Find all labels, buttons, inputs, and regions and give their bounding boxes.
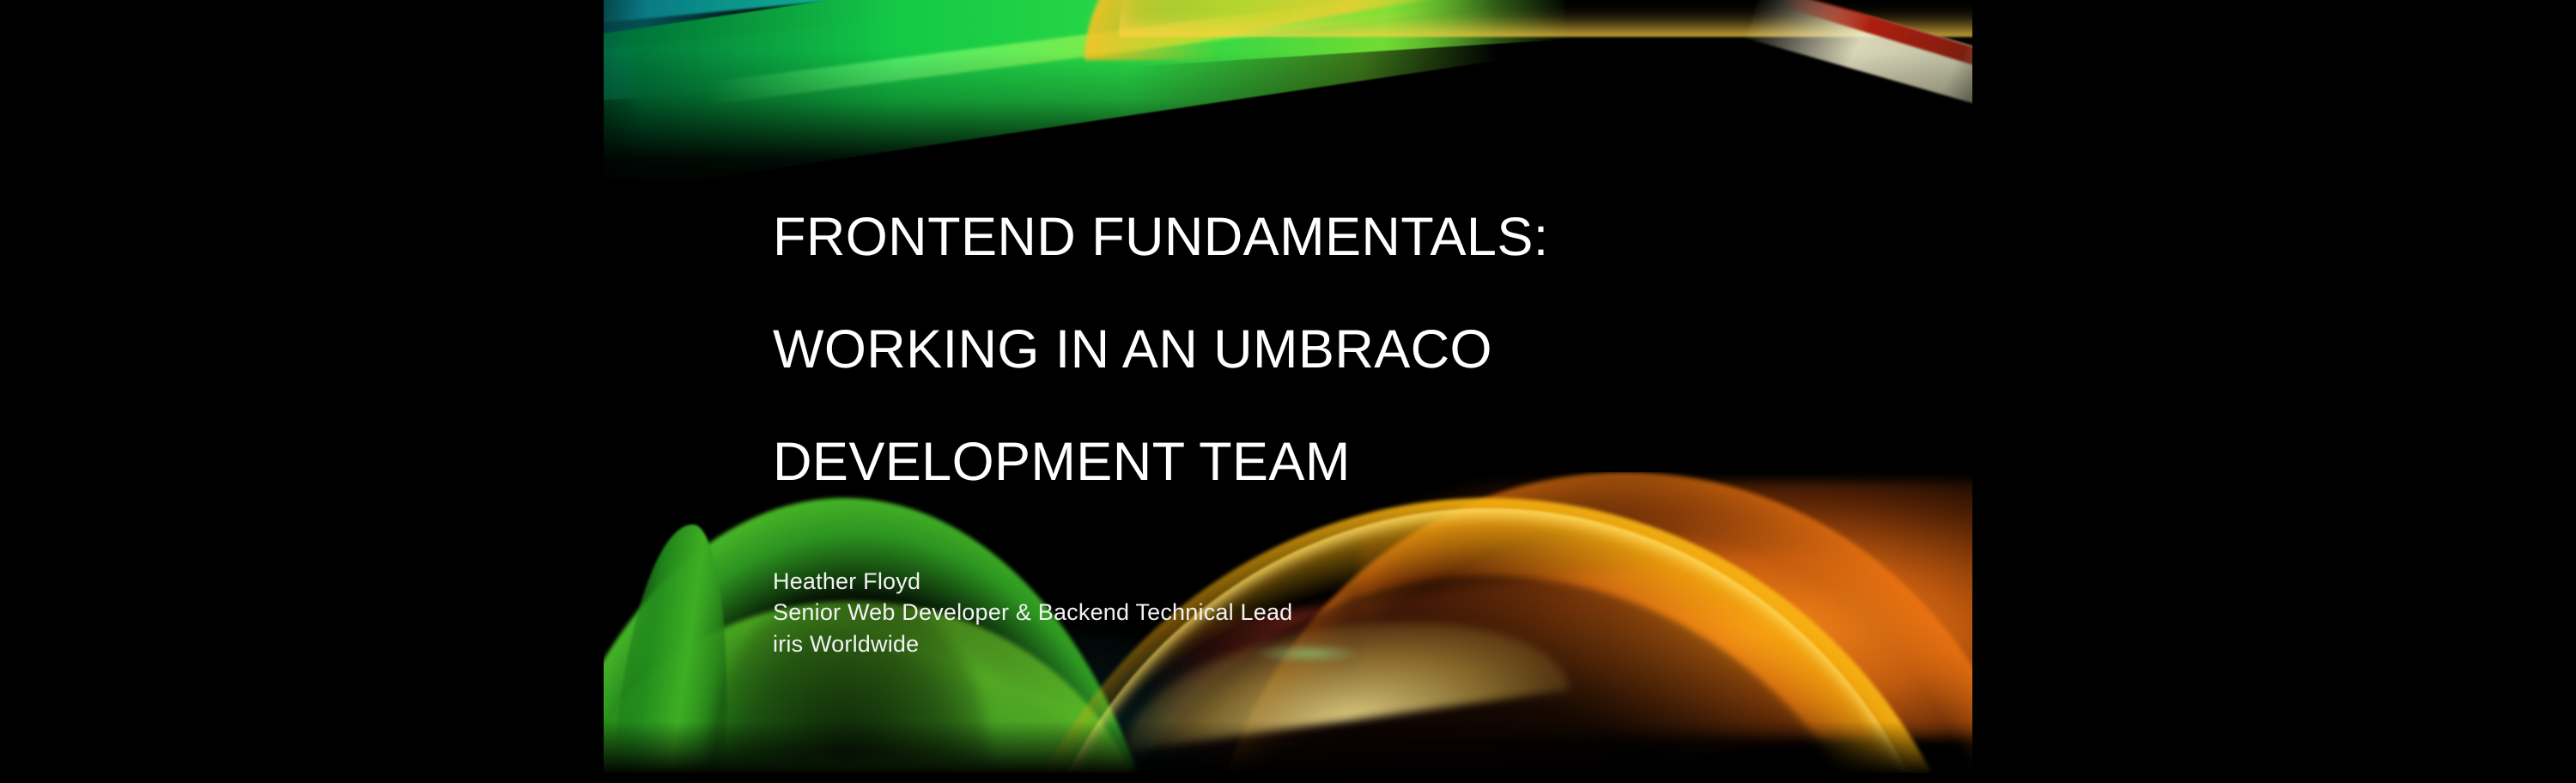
slide-text-block: FRONTEND FUNDAMENTALS: WORKING IN AN UMB… bbox=[773, 153, 1838, 660]
green-gold-transition-streak bbox=[1114, 0, 1479, 52]
slide-title: FRONTEND FUNDAMENTALS: WORKING IN AN UMB… bbox=[773, 153, 1838, 547]
screenshot-canvas: FRONTEND FUNDAMENTALS: WORKING IN AN UMB… bbox=[0, 0, 2576, 783]
title-line-3: DEVELOPMENT TEAM bbox=[773, 434, 1838, 491]
presenter-organization: iris Worldwide bbox=[773, 628, 1838, 660]
dark-red-streak bbox=[1782, 0, 1972, 82]
title-line-1: FRONTEND FUNDAMENTALS: bbox=[773, 209, 1838, 266]
cream-ribbon-streak bbox=[1747, 0, 1972, 118]
presentation-slide: FRONTEND FUNDAMENTALS: WORKING IN AN UMB… bbox=[604, 0, 1972, 773]
amber-arc-glow bbox=[1084, 0, 1972, 60]
green-filament-streak bbox=[705, 0, 1474, 105]
slide-subtitle: Heather Floyd Senior Web Developer & Bac… bbox=[773, 566, 1838, 660]
amber-arc-rim bbox=[1119, 0, 1972, 43]
bottom-vignette bbox=[604, 721, 1972, 773]
teal-green-ribbon-band bbox=[604, 0, 1567, 103]
title-line-2: WORKING IN AN UMBRACO bbox=[773, 322, 1838, 379]
presenter-name: Heather Floyd bbox=[773, 566, 1838, 598]
green-blade-shape bbox=[611, 521, 738, 773]
ribbon-split-shadow bbox=[604, 0, 1511, 52]
presenter-role: Senior Web Developer & Backend Technical… bbox=[773, 597, 1838, 628]
